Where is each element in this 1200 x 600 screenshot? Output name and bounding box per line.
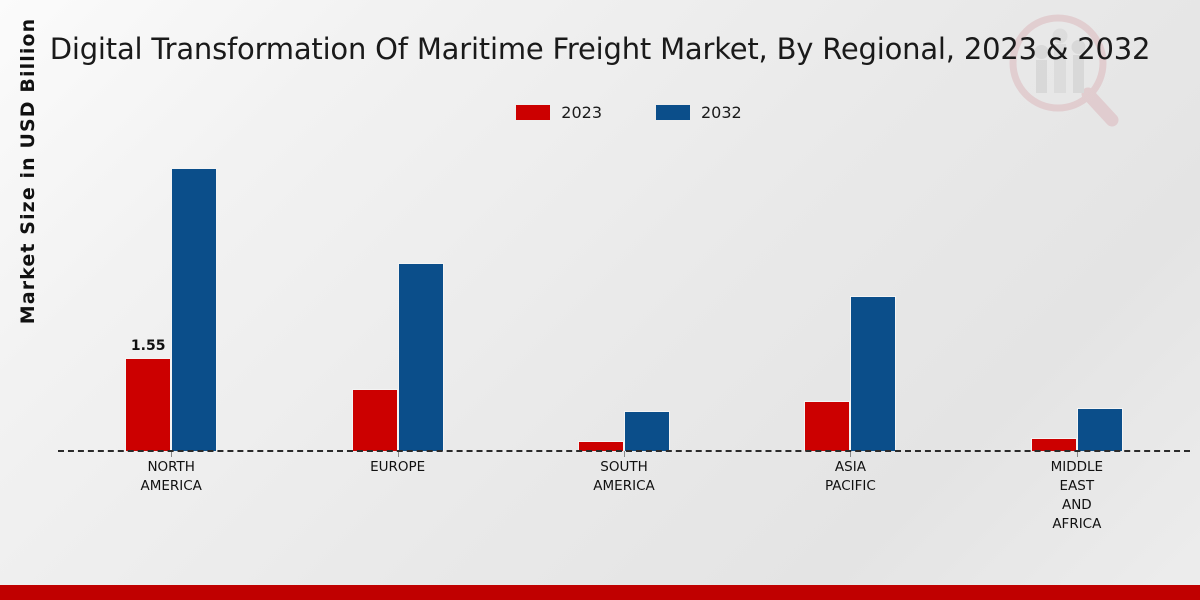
- bar-group: [737, 140, 963, 451]
- bar-2032[interactable]: [624, 411, 670, 451]
- legend-label-2023: 2023: [561, 103, 602, 122]
- x-axis-label-line: NORTH: [58, 458, 284, 477]
- y-axis-title: Market Size in USD Billion: [17, 11, 39, 331]
- x-axis-category-labels: NORTHAMERICAEUROPESOUTHAMERICAASIAPACIFI…: [58, 458, 1190, 534]
- x-axis-label-line: AMERICA: [58, 477, 284, 496]
- x-axis-baseline: [58, 450, 1190, 452]
- legend-swatch-2023: [516, 105, 550, 120]
- x-axis-label: ASIAPACIFIC: [737, 458, 963, 534]
- x-axis-label-line: EAST: [964, 477, 1190, 496]
- bar-group: [284, 140, 510, 451]
- bar-pair: [58, 140, 284, 451]
- plot-area: 1.55: [58, 140, 1190, 452]
- bar-2032[interactable]: [850, 296, 896, 451]
- chart-legend: 2023 2032: [0, 103, 1200, 122]
- bar-2023[interactable]: [125, 358, 171, 451]
- bar-groups: 1.55: [58, 140, 1190, 451]
- bar-2032[interactable]: [398, 263, 444, 451]
- chart-title: Digital Transformation Of Maritime Freig…: [0, 32, 1200, 66]
- bar-pair: [964, 140, 1190, 451]
- x-axis-label-line: ASIA: [737, 458, 963, 477]
- x-axis-label-line: PACIFIC: [737, 477, 963, 496]
- bar-group: [511, 140, 737, 451]
- bar-pair: [511, 140, 737, 451]
- legend-item-2032[interactable]: 2032: [656, 103, 742, 122]
- x-axis-label-line: EUROPE: [284, 458, 510, 477]
- x-axis-label-line: AND: [964, 496, 1190, 515]
- bar-2032[interactable]: [1077, 408, 1123, 451]
- bar-value-label: 1.55: [125, 338, 171, 354]
- bottom-accent-bar: [0, 585, 1200, 600]
- bar-group: [964, 140, 1190, 451]
- x-axis-label-line: SOUTH: [511, 458, 737, 477]
- bar-group: 1.55: [58, 140, 284, 451]
- x-axis-label: SOUTHAMERICA: [511, 458, 737, 534]
- legend-item-2023[interactable]: 2023: [516, 103, 602, 122]
- bar-2023[interactable]: [352, 389, 398, 451]
- x-axis-label: EUROPE: [284, 458, 510, 534]
- x-axis-label-line: AMERICA: [511, 477, 737, 496]
- bar-pair: [737, 140, 963, 451]
- bar-2023[interactable]: [804, 401, 850, 451]
- bar-pair: [284, 140, 510, 451]
- x-axis-label-line: AFRICA: [964, 515, 1190, 534]
- x-axis-label: MIDDLEEASTANDAFRICA: [964, 458, 1190, 534]
- bar-2032[interactable]: [171, 168, 217, 451]
- legend-label-2032: 2032: [701, 103, 742, 122]
- chart-container: Digital Transformation Of Maritime Freig…: [0, 0, 1200, 600]
- x-axis-label: NORTHAMERICA: [58, 458, 284, 534]
- x-axis-label-line: MIDDLE: [964, 458, 1190, 477]
- legend-swatch-2032: [656, 105, 690, 120]
